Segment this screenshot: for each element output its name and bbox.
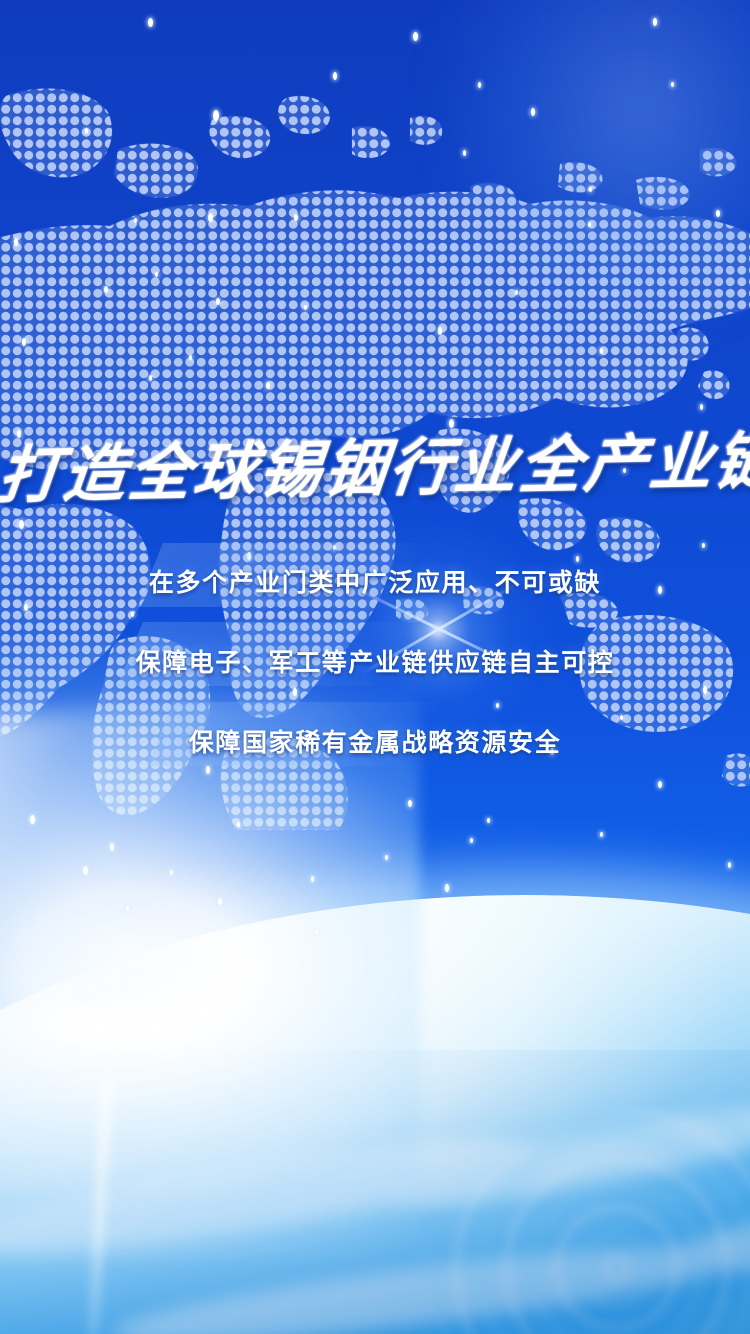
subline-3: 保障国家稀有金属战略资源安全	[0, 723, 750, 759]
page-title: 打造全球锡铟行业全产业链链主	[0, 411, 750, 515]
subline-1: 在多个产业门类中广泛应用、不可或缺	[0, 563, 750, 599]
poster-canvas: 打造全球锡铟行业全产业链链主 在多个产业门类中广泛应用、不可或缺 保障电子、军工…	[0, 0, 750, 1334]
poster-content: 打造全球锡铟行业全产业链链主 在多个产业门类中广泛应用、不可或缺 保障电子、军工…	[0, 0, 750, 1334]
subline-2: 保障电子、军工等产业链供应链自主可控	[0, 643, 750, 679]
